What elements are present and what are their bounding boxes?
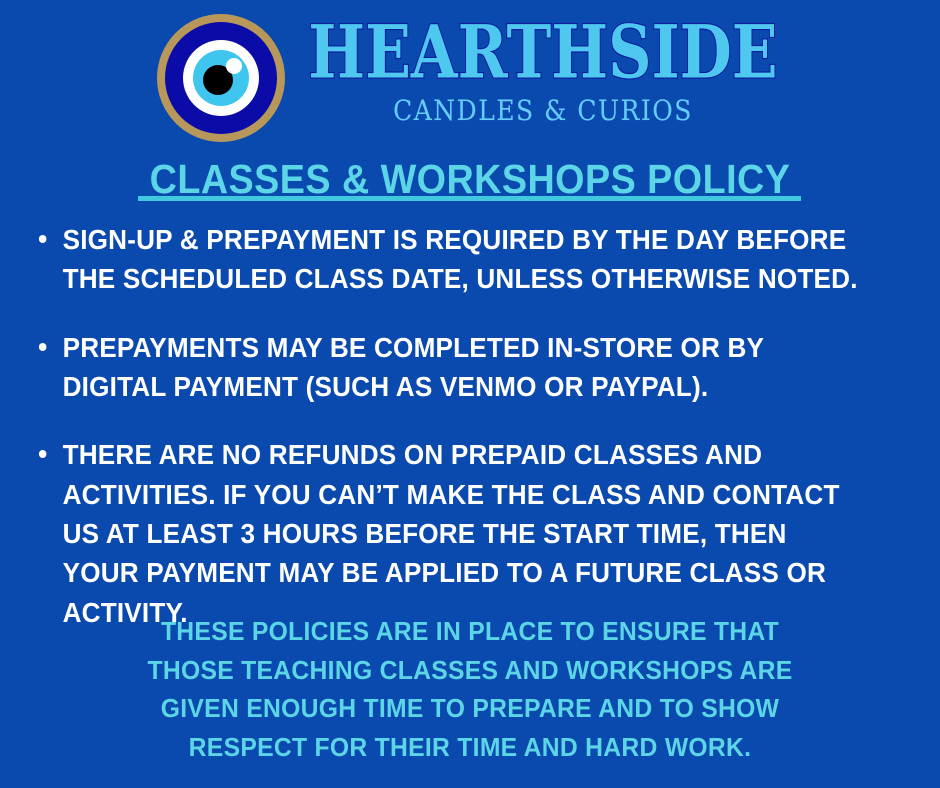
footer-line: GIVEN ENOUGH TIME TO PREPARE AND TO SHOW [24, 689, 917, 728]
list-item: SIGN-UP & PREPAYMENT IS REQUIRED BY THE … [36, 220, 863, 299]
list-item: THERE ARE NO REFUNDS ON PREPAID CLASSES … [36, 435, 863, 632]
brand-tagline: CANDLES & CURIOS [393, 96, 693, 124]
list-item-text: PREPAYMENTS MAY BE COMPLETED IN-STORE OR… [63, 332, 764, 402]
footer-line: THOSE TEACHING CLASSES AND WORKSHOPS ARE [24, 651, 917, 690]
evil-eye-icon [155, 12, 287, 144]
policy-poster: HEARTHSIDE CANDLES & CURIOS CLASSES & WO… [0, 0, 940, 788]
list-item: PREPAYMENTS MAY BE COMPLETED IN-STORE OR… [36, 328, 863, 407]
brand-wordmark: HEARTHSIDE CANDLES & CURIOS [301, 29, 785, 127]
bullet-dot-icon [39, 235, 47, 243]
bullet-dot-icon [39, 450, 47, 458]
policy-list: SIGN-UP & PREPAYMENT IS REQUIRED BY THE … [36, 220, 906, 661]
title-underline [138, 196, 801, 201]
page-title: CLASSES & WORKSHOPS POLICY [38, 158, 903, 201]
footer-note: THESE POLICIES ARE IN PLACE TO ENSURE TH… [0, 612, 940, 767]
list-item-text: SIGN-UP & PREPAYMENT IS REQUIRED BY THE … [63, 224, 858, 294]
footer-line: THESE POLICIES ARE IN PLACE TO ENSURE TH… [24, 612, 917, 651]
footer-line: RESPECT FOR THEIR TIME AND HARD WORK. [24, 728, 917, 767]
brand-header: HEARTHSIDE CANDLES & CURIOS [0, 8, 940, 148]
bullet-dot-icon [39, 343, 47, 351]
list-item-text: THERE ARE NO REFUNDS ON PREPAID CLASSES … [63, 439, 840, 627]
brand-name: HEARTHSIDE [308, 18, 777, 87]
